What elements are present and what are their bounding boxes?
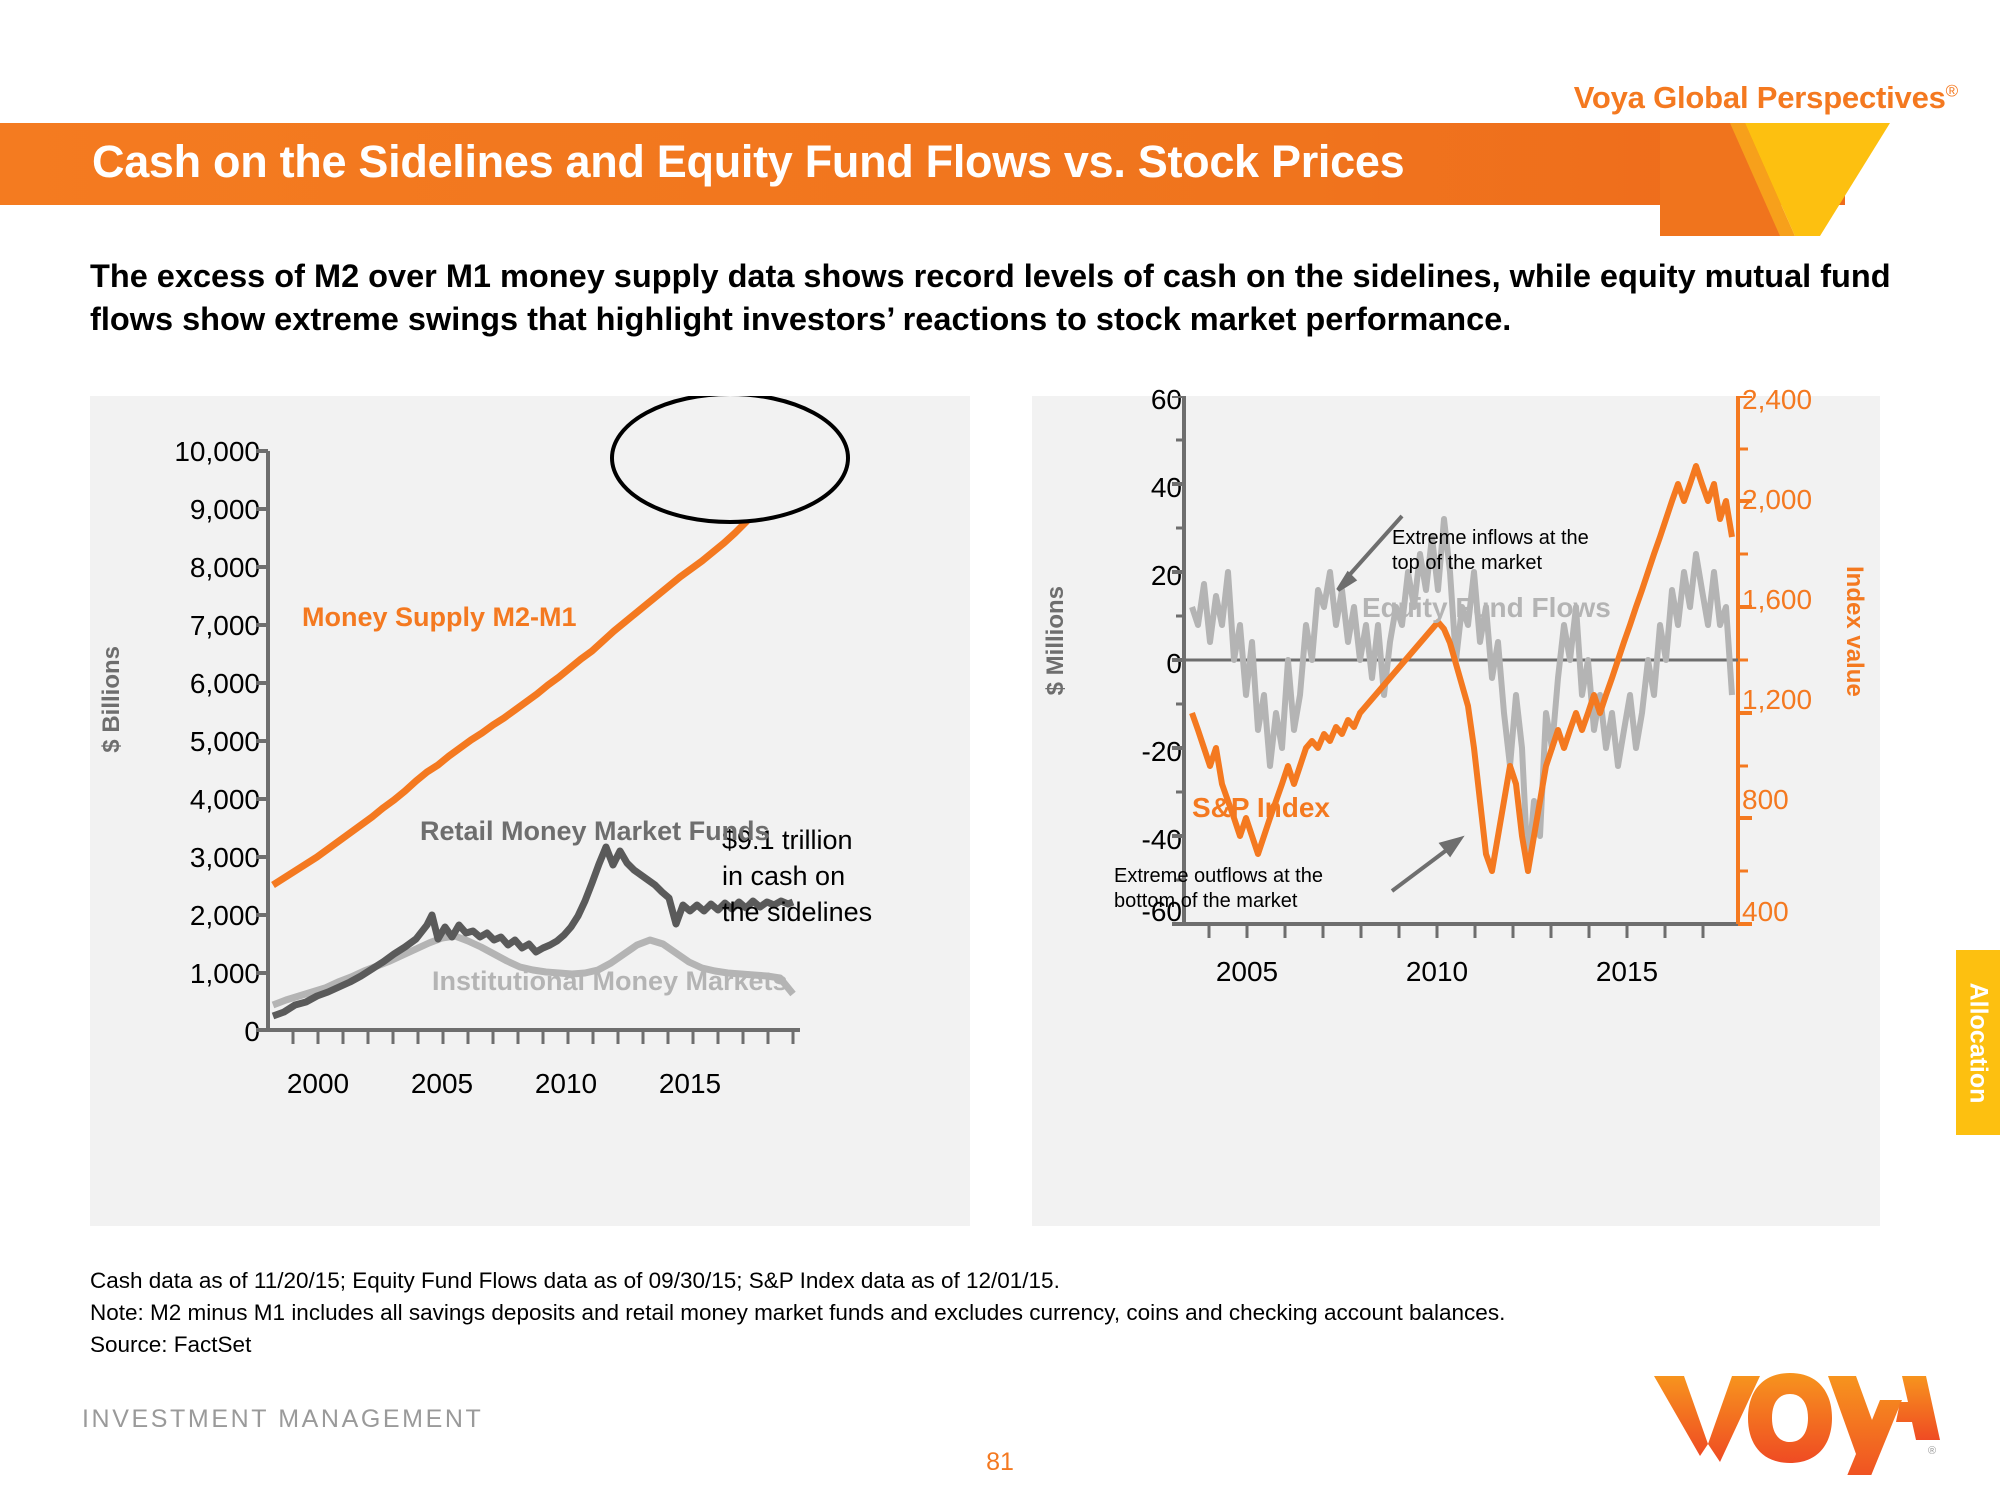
registered-mark: ® — [1946, 82, 1958, 101]
series-label-retail-mmf: Retail Money Market Funds — [420, 816, 770, 847]
annotation-outflows: Extreme outflows at the bottom of the ma… — [1114, 864, 1323, 914]
left-chart-plot — [90, 396, 970, 1226]
voya-logo-registered: ® — [1928, 1445, 1936, 1457]
series-label-institutional-mm: Institutional Money Markets — [432, 966, 788, 997]
annotation-outflows-line1: Extreme outflows at the — [1114, 864, 1323, 889]
footnotes: Cash data as of 11/20/15; Equity Fund Fl… — [90, 1265, 1840, 1362]
subtitle: The excess of M2 over M1 money supply da… — [90, 255, 1930, 341]
brand-perspectives: Voya Global Perspectives® — [1574, 80, 1958, 116]
series-label-money-supply: Money Supply M2-M1 — [302, 602, 577, 633]
page-title: Cash on the Sidelines and Equity Fund Fl… — [92, 136, 1404, 188]
annotation-inflows: Extreme inflows at the top of the market — [1392, 526, 1589, 576]
footer-investment-management: INVESTMENT MANAGEMENT — [82, 1405, 483, 1434]
voya-logo: ® — [1650, 1370, 1940, 1475]
v-mark-svg — [1660, 123, 1890, 236]
chart-panel-cash-on-sidelines: $ Billions 10,000 9,000 8,000 7,000 6,00… — [90, 396, 970, 1226]
chart-panel-equity-fund-flows: $ Millions Index value 60 40 20 0 -20 -4… — [1032, 396, 1880, 1226]
footnote-source: Source: FactSet — [90, 1329, 1840, 1361]
footnote-note: Note: M2 minus M1 includes all savings d… — [90, 1297, 1840, 1329]
allocation-side-tab[interactable]: Allocation — [1956, 950, 2000, 1135]
series-label-sp-index: S&P Index — [1192, 792, 1330, 824]
callout-line-3: the sidelines — [722, 895, 952, 931]
right-chart-plot — [1032, 396, 1880, 1226]
annotation-inflows-line2: top of the market — [1392, 551, 1589, 576]
banner-v-logo — [1660, 123, 1890, 236]
annotation-inflows-line1: Extreme inflows at the — [1392, 526, 1589, 551]
voya-logo-svg: ® — [1650, 1370, 1940, 1475]
allocation-side-tab-label: Allocation — [1964, 982, 1993, 1103]
callout-line-2: in cash on — [722, 859, 952, 895]
brand-perspectives-text: Voya Global Perspectives — [1574, 80, 1946, 115]
series-label-equity-fund-flows: Equity Fund Flows — [1362, 592, 1611, 624]
footnote-data-dates: Cash data as of 11/20/15; Equity Fund Fl… — [90, 1265, 1840, 1297]
annotation-outflows-line2: bottom of the market — [1114, 889, 1323, 914]
